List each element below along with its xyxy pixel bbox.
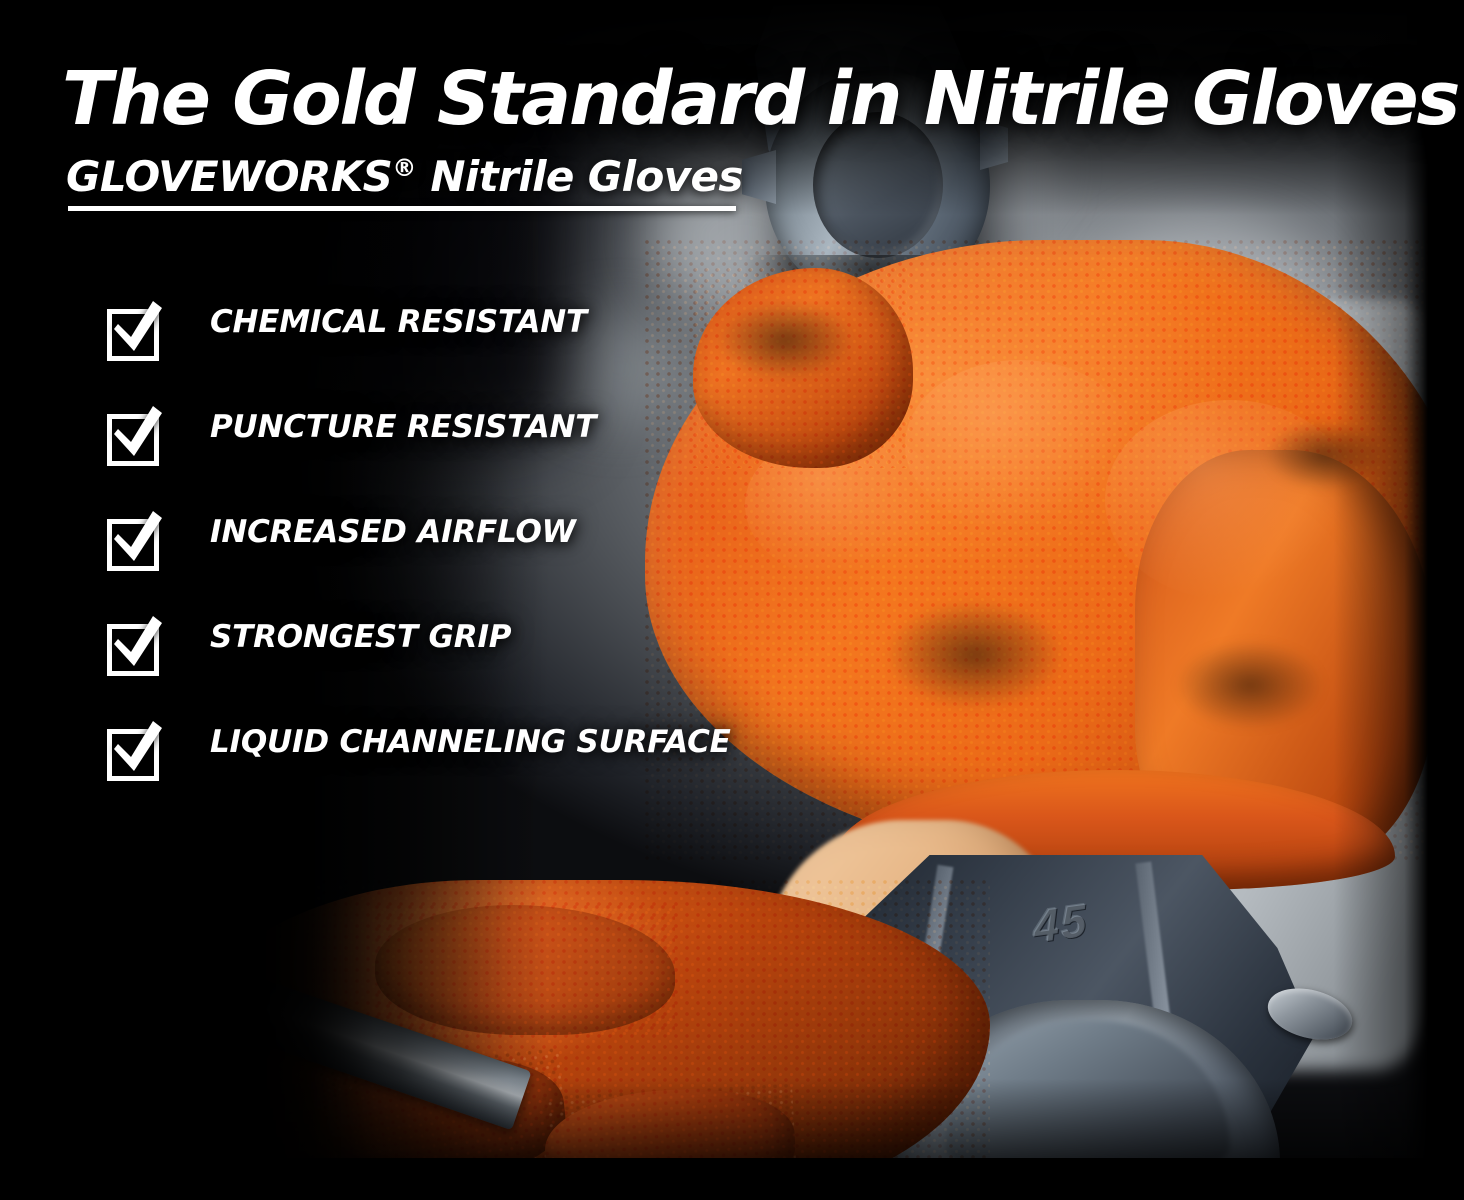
registered-trademark-symbol: ® xyxy=(392,154,416,182)
checkmark-glyph xyxy=(110,614,164,672)
bottom-black-bar xyxy=(0,1158,1464,1200)
checkbox-checked-icon xyxy=(106,509,162,571)
checkbox-checked-icon xyxy=(106,719,162,781)
feature-label: Puncture Resistant xyxy=(162,402,746,445)
checkbox-checked-icon xyxy=(106,299,162,361)
feature-label: Strongest Grip xyxy=(162,612,746,655)
checkbox-checked-icon xyxy=(106,404,162,466)
feature-label: Chemical Resistant xyxy=(162,297,746,340)
feature-item-puncture-resistant: Puncture Resistant xyxy=(106,402,746,507)
page-title: The Gold Standard in Nitrile Gloves xyxy=(62,62,1422,137)
product-label: Nitrile Gloves xyxy=(416,152,742,201)
feature-list: Chemical Resistant Puncture Resistant In… xyxy=(106,297,746,822)
product-name: GLOVEWORKS® Nitrile Gloves xyxy=(66,155,743,199)
checkmark-glyph xyxy=(110,404,164,462)
feature-item-strongest-grip: Strongest Grip xyxy=(106,612,746,717)
checkbox-checked-icon xyxy=(106,614,162,676)
feature-label: Increased Airflow xyxy=(162,507,746,550)
feature-item-chemical-resistant: Chemical Resistant xyxy=(106,297,746,402)
product-feature-banner: 45 The Gold Standard in Nitrile Gloves G… xyxy=(0,0,1464,1200)
brand-name: GLOVEWORKS xyxy=(66,152,392,201)
feature-item-liquid-channeling-surface: Liquid Channeling Surface xyxy=(106,717,746,822)
title-underline-rule xyxy=(68,206,736,211)
feature-item-increased-airflow: Increased Airflow xyxy=(106,507,746,612)
checkmark-glyph xyxy=(110,509,164,567)
checkmark-glyph xyxy=(110,719,164,777)
checkmark-glyph xyxy=(110,299,164,357)
feature-label: Liquid Channeling Surface xyxy=(162,717,746,760)
